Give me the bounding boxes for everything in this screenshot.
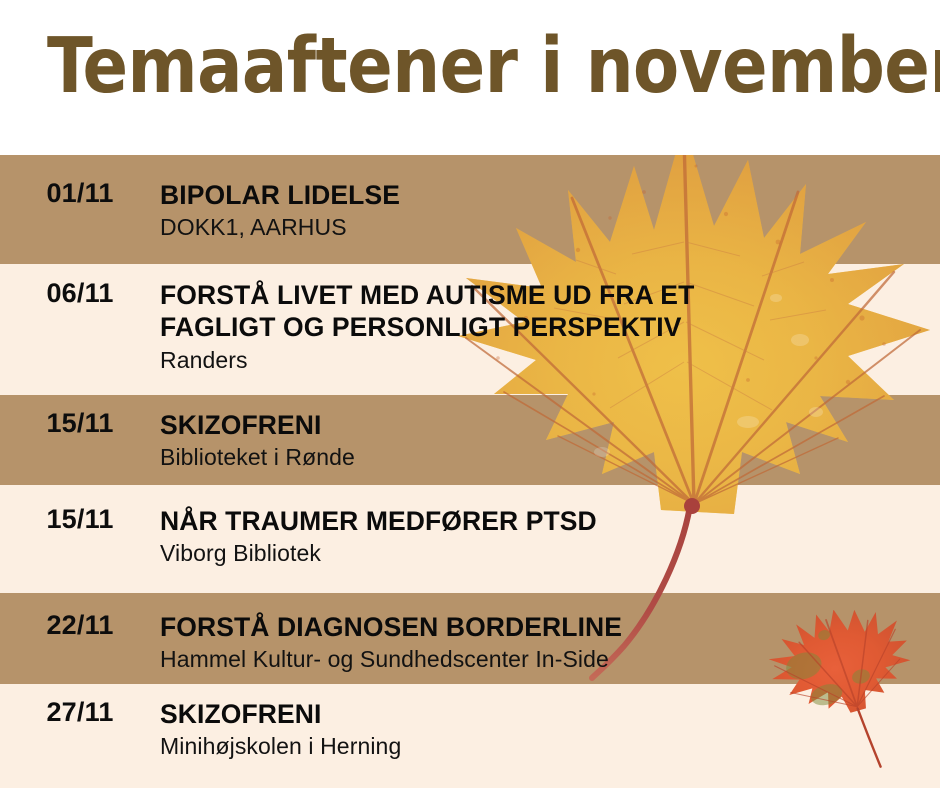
page-title: Temaaftener i november xyxy=(47,28,940,105)
event-info: BIPOLAR LIDELSE DOKK1, AARHUS xyxy=(160,179,940,242)
event-date: 06/11 xyxy=(0,279,160,308)
event-date: 15/11 xyxy=(0,409,160,438)
poster-canvas: Temaaftener i november 01/11 BIPOLAR LID… xyxy=(0,0,940,788)
event-title: FORSTÅ DIAGNOSEN BORDERLINE xyxy=(160,611,932,643)
event-row[interactable]: 06/11 FORSTÅ LIVET MED AUTISME UD FRA ET… xyxy=(0,279,940,374)
event-venue: DOKK1, AARHUS xyxy=(160,213,932,242)
event-date: 01/11 xyxy=(0,179,160,208)
event-venue: Randers xyxy=(160,346,932,375)
event-row[interactable]: 27/11 SKIZOFRENI Minihøjskolen i Herning xyxy=(0,698,940,761)
event-date: 27/11 xyxy=(0,698,160,727)
event-title: FORSTÅ LIVET MED AUTISME UD FRA ET FAGLI… xyxy=(160,279,932,344)
event-title: NÅR TRAUMER MEDFØRER PTSD xyxy=(160,505,932,537)
event-venue: Viborg Bibliotek xyxy=(160,539,932,568)
event-row[interactable]: 01/11 BIPOLAR LIDELSE DOKK1, AARHUS xyxy=(0,179,940,242)
event-title: BIPOLAR LIDELSE xyxy=(160,179,932,211)
event-info: FORSTÅ DIAGNOSEN BORDERLINE Hammel Kultu… xyxy=(160,611,940,674)
event-info: FORSTÅ LIVET MED AUTISME UD FRA ET FAGLI… xyxy=(160,279,940,374)
event-title: SKIZOFRENI xyxy=(160,698,932,730)
event-info: SKIZOFRENI Biblioteket i Rønde xyxy=(160,409,940,472)
event-venue: Hammel Kultur- og Sundhedscenter In-Side xyxy=(160,645,932,674)
event-date: 22/11 xyxy=(0,611,160,640)
event-row[interactable]: 22/11 FORSTÅ DIAGNOSEN BORDERLINE Hammel… xyxy=(0,611,940,674)
event-date: 15/11 xyxy=(0,505,160,534)
title-band: Temaaftener i november xyxy=(0,0,940,155)
event-venue: Minihøjskolen i Herning xyxy=(160,732,932,761)
event-info: NÅR TRAUMER MEDFØRER PTSD Viborg Bibliot… xyxy=(160,505,940,568)
event-venue: Biblioteket i Rønde xyxy=(160,443,932,472)
event-row[interactable]: 15/11 SKIZOFRENI Biblioteket i Rønde xyxy=(0,409,940,472)
event-info: SKIZOFRENI Minihøjskolen i Herning xyxy=(160,698,940,761)
event-title: SKIZOFRENI xyxy=(160,409,932,441)
event-row[interactable]: 15/11 NÅR TRAUMER MEDFØRER PTSD Viborg B… xyxy=(0,505,940,568)
